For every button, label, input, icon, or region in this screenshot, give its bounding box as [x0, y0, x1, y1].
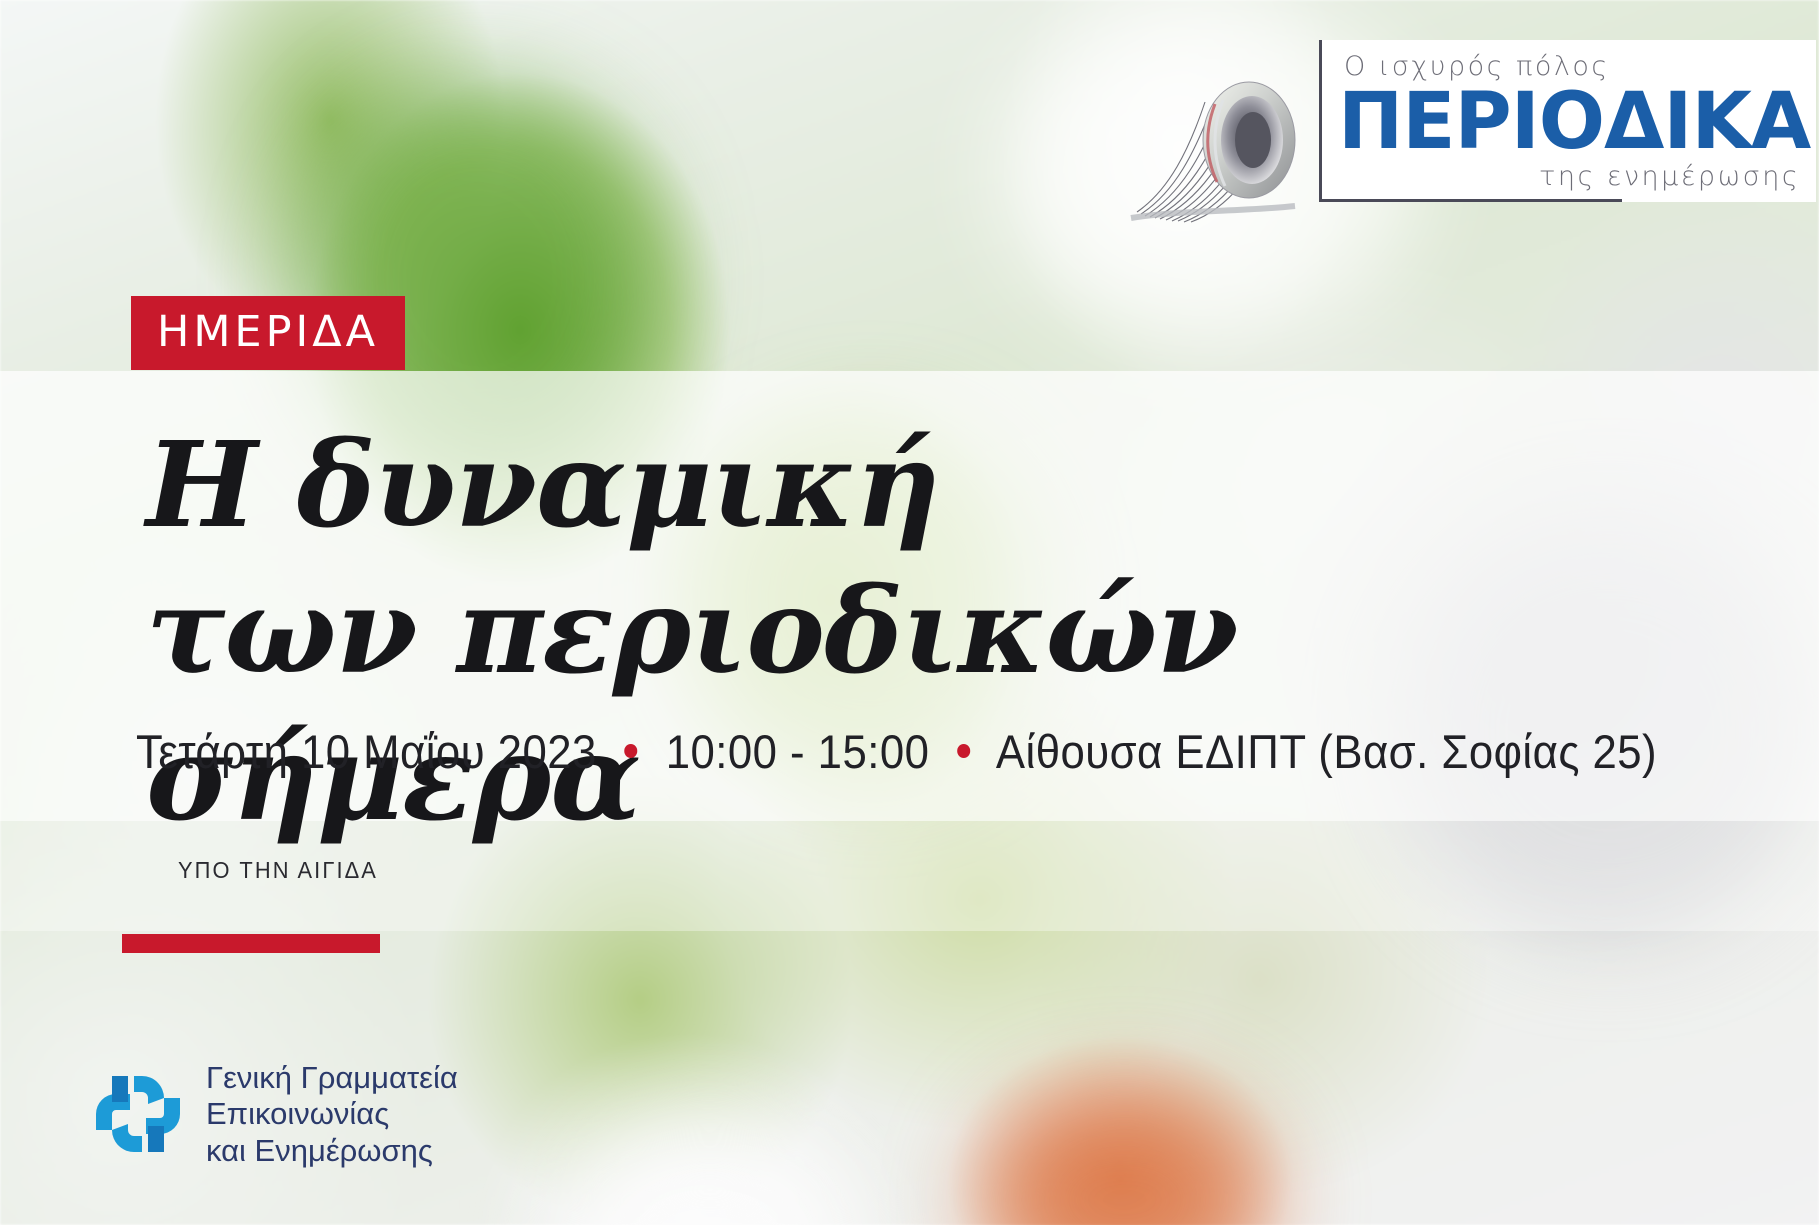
event-time: 10:00 - 15:00 — [666, 725, 930, 778]
org-line-1: Γενική Γραμματεία — [206, 1060, 458, 1096]
brand-logo-text: Ο ισχυρός πόλος ΠΕΡΙΟΔΙΚΑ της ενημέρωσης — [1319, 40, 1816, 202]
interlocking-links-icon — [88, 1064, 188, 1164]
separator-dot-2 — [957, 744, 970, 758]
auspices-organization: Γενική Γραμματεία Επικοινωνίας και Ενημέ… — [88, 1060, 458, 1169]
auspices-label: ΥΠΟ ΤΗΝ ΑΙΓΙΔΑ — [178, 857, 378, 884]
brand-name: ΠΕΡΙΟΔΙΚΑ — [1338, 84, 1810, 160]
separator-dot-1 — [624, 744, 637, 758]
event-meta: Τετάρτη 10 Μαΐου 2023 10:00 - 15:00 Αίθο… — [136, 724, 1657, 779]
event-date: Τετάρτη 10 Μαΐου 2023 — [136, 725, 597, 778]
brand-logo: Ο ισχυρός πόλος ΠΕΡΙΟΔΙΚΑ της ενημέρωσης — [1119, 40, 1759, 240]
auspices-organization-name: Γενική Γραμματεία Επικοινωνίας και Ενημέ… — [206, 1060, 458, 1169]
org-line-2: Επικοινωνίας — [206, 1096, 458, 1132]
status-badge: ΗΜΕΡΙΔΑ — [131, 296, 405, 370]
event-poster: Ο ισχυρός πόλος ΠΕΡΙΟΔΙΚΑ της ενημέρωσης… — [0, 0, 1819, 1225]
event-venue: Αίθουσα ΕΔΙΠΤ (Βασ. Σοφίας 25) — [996, 725, 1657, 778]
page-title-line-2: των περιοδικών σήμερα — [146, 558, 1706, 851]
page-title: Η δυναμική των περιοδικών σήμερα — [146, 412, 1706, 851]
org-line-3: και Ενημέρωσης — [206, 1133, 458, 1169]
divider-rule — [122, 934, 380, 953]
rolled-magazine-icon — [1119, 40, 1319, 230]
page-title-line-1: Η δυναμική — [146, 412, 1706, 558]
